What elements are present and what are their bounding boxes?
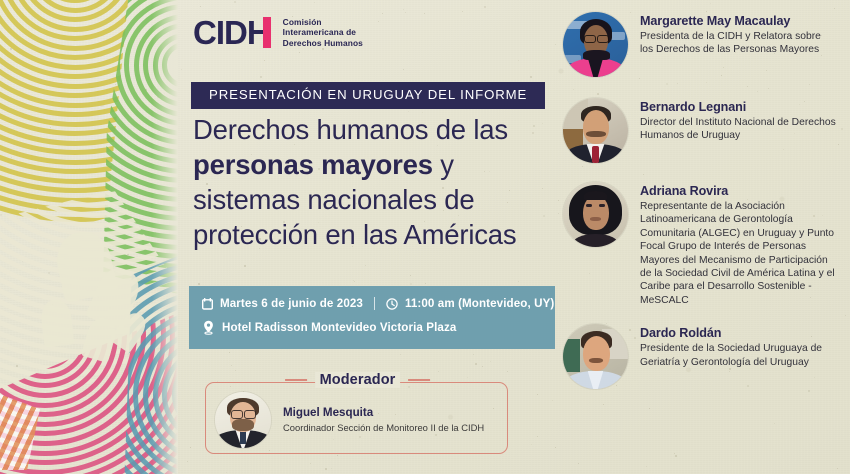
event-date: Martes 6 de junio de 2023 <box>220 297 363 310</box>
moderator-text: Miguel Mesquita Coordinador Sección de M… <box>283 406 484 434</box>
map-pin-icon <box>202 320 215 335</box>
moderator-dash-left <box>285 379 307 381</box>
speaker-item: Adriana Rovira Representante de la Asoci… <box>563 182 848 307</box>
moderator-label-group: Moderador <box>285 372 431 388</box>
event-datetime-row: Martes 6 de junio de 2023 11:00 am (Mont… <box>189 286 555 310</box>
avatar-bernardo-legnani <box>563 98 628 163</box>
avatar-dardo-roldan <box>563 324 628 389</box>
speaker-name: Adriana Rovira <box>640 184 836 199</box>
moderator-dash-right <box>408 379 430 381</box>
speaker-text: Dardo Roldán Presidente de la Sociedad U… <box>640 324 836 369</box>
moderator-section: Moderador Miguel Mesquita Coordinador Se… <box>205 372 510 464</box>
event-info-box: Martes 6 de junio de 2023 11:00 am (Mont… <box>189 286 555 349</box>
speaker-item: Margarette May Macaulay Presidenta de la… <box>563 12 848 77</box>
title-line-3: sistemas nacionales de <box>193 184 474 215</box>
speaker-text: Margarette May Macaulay Presidenta de la… <box>640 12 836 57</box>
moderator-entry: Miguel Mesquita Coordinador Sección de M… <box>215 392 484 448</box>
clock-icon <box>386 298 398 310</box>
moderator-section-label: Moderador <box>315 372 401 388</box>
speaker-name: Dardo Roldán <box>640 326 836 341</box>
poster-canvas: CIDH Comisión Interamericana de Derechos… <box>0 0 850 474</box>
avatar-margarette-may-macaulay <box>563 12 628 77</box>
event-location-row: Hotel Radisson Montevideo Victoria Plaza <box>189 310 555 335</box>
logo-pink-bar <box>263 17 271 48</box>
moderator-role: Coordinador Sección de Monitoreo II de l… <box>283 421 484 434</box>
info-divider <box>374 297 375 310</box>
presentation-banner: PRESENTACIÓN EN URUGUAY DEL INFORME <box>191 82 545 109</box>
title-line-4: protección en las Américas <box>193 219 516 250</box>
artwork-edge-fade <box>152 0 178 474</box>
speaker-name: Margarette May Macaulay <box>640 14 836 29</box>
speaker-name: Bernardo Legnani <box>640 100 836 115</box>
cidh-acronym: CIDH <box>193 16 270 50</box>
fingerprint-rings-artwork <box>0 0 178 474</box>
event-time: 11:00 am (Montevideo, UY) <box>405 297 554 310</box>
speaker-role: Director del Instituto Nacional de Derec… <box>640 116 836 143</box>
speaker-text: Bernardo Legnani Director del Instituto … <box>640 98 836 143</box>
avatar-adriana-rovira <box>563 182 628 247</box>
poster-title: Derechos humanos de las personas mayores… <box>193 112 548 252</box>
speakers-list: Margarette May Macaulay Presidenta de la… <box>563 12 848 398</box>
title-line-1: Derechos humanos de las <box>193 114 508 145</box>
speaker-text: Adriana Rovira Representante de la Asoci… <box>640 182 836 307</box>
speaker-role: Presidenta de la CIDH y Relatora sobre l… <box>640 30 836 57</box>
title-line-2-rest: y <box>433 149 454 180</box>
logo-subtitle-line-2: Interamericana de <box>283 27 363 37</box>
speaker-role: Representante de la Asociación Latinoame… <box>640 200 836 307</box>
speaker-item: Dardo Roldán Presidente de la Sociedad U… <box>563 324 848 389</box>
logo-subtitle-line-1: Comisión <box>283 17 363 27</box>
title-line-2-bold: personas mayores <box>193 149 433 180</box>
event-location: Hotel Radisson Montevideo Victoria Plaza <box>222 321 456 334</box>
avatar-miguel-mesquita <box>215 392 271 448</box>
cidh-logo-subtitle: Comisión Interamericana de Derechos Huma… <box>283 17 363 48</box>
calendar-icon <box>202 298 213 310</box>
cidh-logo: CIDH Comisión Interamericana de Derechos… <box>193 16 363 50</box>
speaker-role: Presidente de la Sociedad Uruguaya de Ge… <box>640 342 836 369</box>
logo-subtitle-line-3: Derechos Humanos <box>283 38 363 48</box>
moderator-name: Miguel Mesquita <box>283 406 484 419</box>
speaker-item: Bernardo Legnani Director del Instituto … <box>563 98 848 163</box>
